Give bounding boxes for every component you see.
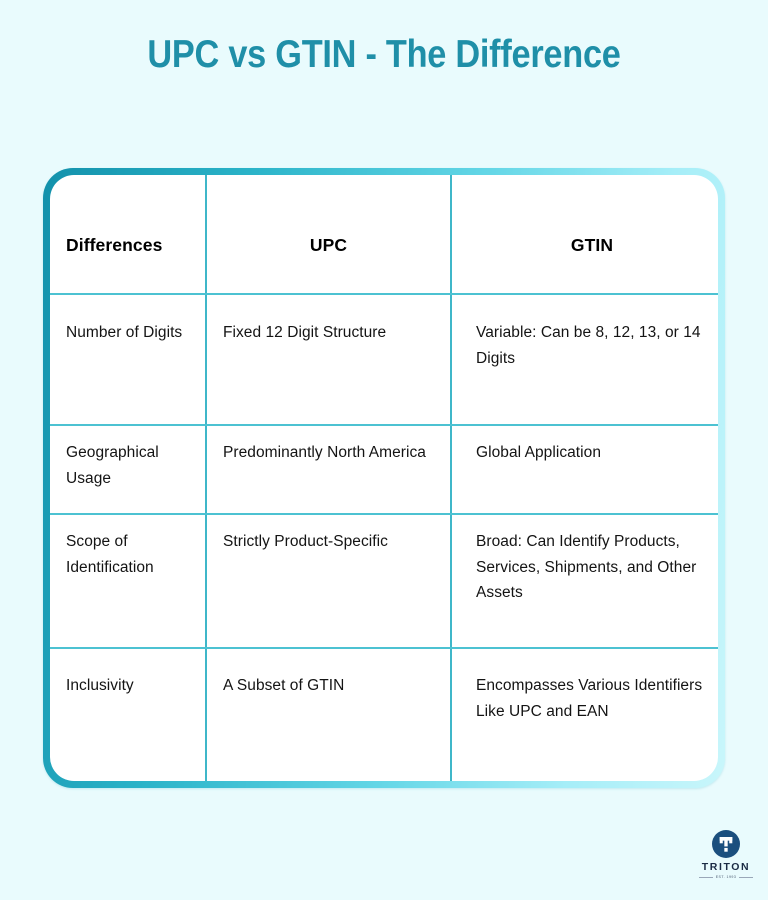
row-divider-3 — [50, 647, 718, 649]
cell-gtin: Encompasses Various Identifiers Like UPC… — [452, 673, 718, 724]
table-row: Inclusivity — [50, 673, 205, 699]
header-label: UPC — [207, 231, 450, 260]
table-row: Global Application — [452, 440, 718, 466]
cell-gtin: Variable: Can be 8, 12, 13, or 14 Digits — [452, 320, 718, 371]
cell-upc: A Subset of GTIN — [207, 673, 450, 699]
cell-difference: Scope of Identification — [50, 529, 205, 580]
row-divider-header — [50, 293, 718, 295]
table-row: Encompasses Various Identifiers Like UPC… — [452, 673, 718, 724]
table-row: A Subset of GTIN — [207, 673, 450, 699]
row-divider-2 — [50, 513, 718, 515]
cell-upc: Fixed 12 Digit Structure — [207, 320, 450, 346]
cell-gtin: Global Application — [452, 440, 718, 466]
logo-established-row: EST. 1993 — [699, 876, 753, 880]
table-header-gtin: GTIN — [452, 231, 718, 260]
table-row: Broad: Can Identify Products, Services, … — [452, 529, 718, 606]
table-row: Geographical Usage — [50, 440, 205, 491]
table-header-upc: UPC — [207, 231, 450, 260]
cell-difference: Number of Digits — [50, 320, 205, 346]
table-row: Fixed 12 Digit Structure — [207, 320, 450, 346]
cell-upc: Strictly Product-Specific — [207, 529, 450, 555]
cell-difference: Geographical Usage — [50, 440, 205, 491]
table-header-differences: Differences — [50, 231, 205, 260]
table-row: Scope of Identification — [50, 529, 205, 580]
page-title: UPC vs GTIN - The Difference — [46, 33, 722, 77]
table-row: Strictly Product-Specific — [207, 529, 450, 555]
logo-wordmark: TRITON — [699, 862, 753, 873]
logo-rule-left — [699, 877, 713, 878]
cell-difference: Inclusivity — [50, 673, 205, 699]
table-row: Variable: Can be 8, 12, 13, or 14 Digits — [452, 320, 718, 371]
logo-rule-right — [739, 877, 753, 878]
comparison-table: Differences UPC GTIN Number of Digits Fi… — [50, 175, 718, 781]
header-label: GTIN — [452, 231, 718, 260]
comparison-card: Differences UPC GTIN Number of Digits Fi… — [43, 168, 725, 788]
triton-emblem-icon — [712, 830, 740, 858]
table-row: Predominantly North America — [207, 440, 450, 466]
cell-upc: Predominantly North America — [207, 440, 450, 466]
header-label: Differences — [50, 231, 205, 260]
table-row: Number of Digits — [50, 320, 205, 346]
logo-established: EST. 1993 — [716, 876, 737, 880]
triton-logo: TRITON EST. 1993 — [699, 830, 753, 879]
cell-gtin: Broad: Can Identify Products, Services, … — [452, 529, 718, 606]
row-divider-1 — [50, 424, 718, 426]
